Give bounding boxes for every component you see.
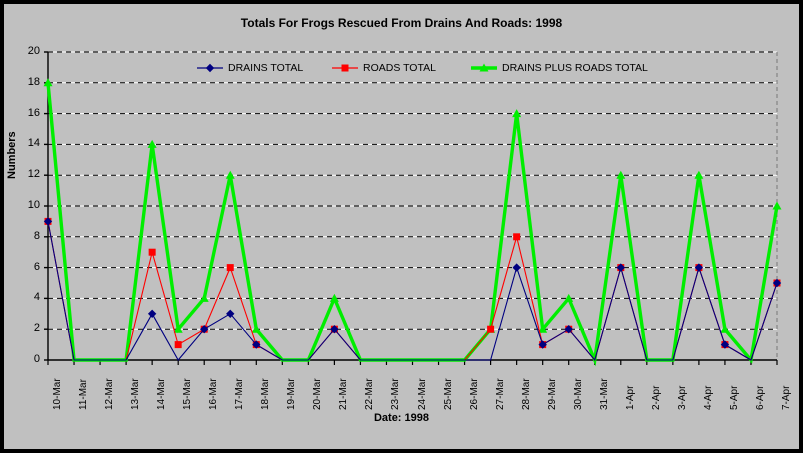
data-point [149, 249, 156, 256]
data-point [512, 263, 520, 271]
x-tick-label: 24-Mar [417, 378, 428, 410]
x-tick-label: 4-Apr [703, 386, 714, 410]
legend-label: DRAINS PLUS ROADS TOTAL [502, 62, 648, 74]
x-tick-label: 29-Mar [547, 378, 558, 410]
x-tick-label: 12-Mar [104, 378, 115, 410]
x-tick-label: 28-Mar [521, 378, 532, 410]
y-tick-label: 18 [16, 76, 40, 88]
legend-item[interactable]: DRAINS PLUS ROADS TOTAL [470, 61, 648, 75]
legend-diamond-icon [196, 62, 224, 74]
data-point [487, 326, 494, 333]
x-tick-label: 23-Mar [390, 378, 401, 410]
data-point [148, 310, 156, 318]
y-tick-label: 6 [16, 261, 40, 273]
x-tick-label: 17-Mar [234, 378, 245, 410]
y-tick-label: 20 [16, 45, 40, 57]
x-tick-label: 20-Mar [312, 378, 323, 410]
series-line [48, 221, 777, 360]
x-tick-label: 25-Mar [443, 378, 454, 410]
y-tick-label: 14 [16, 137, 40, 149]
y-tick-label: 2 [16, 322, 40, 334]
series-roads-total [45, 218, 781, 360]
x-tick-label: 6-Apr [755, 386, 766, 410]
x-tick-label: 30-Mar [573, 378, 584, 410]
series-line [48, 221, 777, 360]
x-tick-label: 16-Mar [208, 378, 219, 410]
x-tick-label: 2-Apr [651, 386, 662, 410]
series-drains-total [44, 217, 781, 360]
legend-marker [342, 65, 349, 72]
y-tick-label: 4 [16, 291, 40, 303]
x-tick-label: 1-Apr [625, 386, 636, 410]
x-tick-label: 18-Mar [260, 378, 271, 410]
x-tick-label: 7-Apr [781, 386, 792, 410]
legend-item[interactable]: ROADS TOTAL [331, 61, 436, 75]
legend-label: ROADS TOTAL [363, 62, 436, 74]
x-tick-label: 10-Mar [52, 378, 63, 410]
legend-triangle-icon [470, 62, 498, 74]
legend-label: DRAINS TOTAL [228, 62, 303, 74]
x-tick-label: 27-Mar [495, 378, 506, 410]
legend-marker [206, 64, 214, 72]
y-tick-label: 16 [16, 107, 40, 119]
y-tick-label: 0 [16, 353, 40, 365]
x-tick-label: 3-Apr [677, 386, 688, 410]
y-tick-label: 10 [16, 199, 40, 211]
x-tick-label: 26-Mar [469, 378, 480, 410]
y-tick-label: 12 [16, 168, 40, 180]
x-tick-label: 11-Mar [78, 379, 89, 410]
series-line [48, 83, 777, 360]
x-tick-label: 19-Mar [286, 378, 297, 410]
data-point [227, 264, 234, 271]
x-tick-label: 13-Mar [130, 378, 141, 410]
x-tick-label: 15-Mar [182, 378, 193, 410]
legend-square-icon [331, 62, 359, 74]
x-tick-label: 14-Mar [156, 378, 167, 410]
data-point [175, 341, 182, 348]
x-tick-label: 21-Mar [338, 378, 349, 410]
x-tick-label: 31-Mar [599, 378, 610, 410]
x-tick-label: 22-Mar [364, 378, 375, 410]
data-point [513, 233, 520, 240]
chart-frame: Totals For Frogs Rescued From Drains And… [0, 0, 803, 453]
y-tick-label: 8 [16, 230, 40, 242]
x-tick-label: 5-Apr [729, 386, 740, 410]
legend-item[interactable]: DRAINS TOTAL [196, 61, 303, 75]
